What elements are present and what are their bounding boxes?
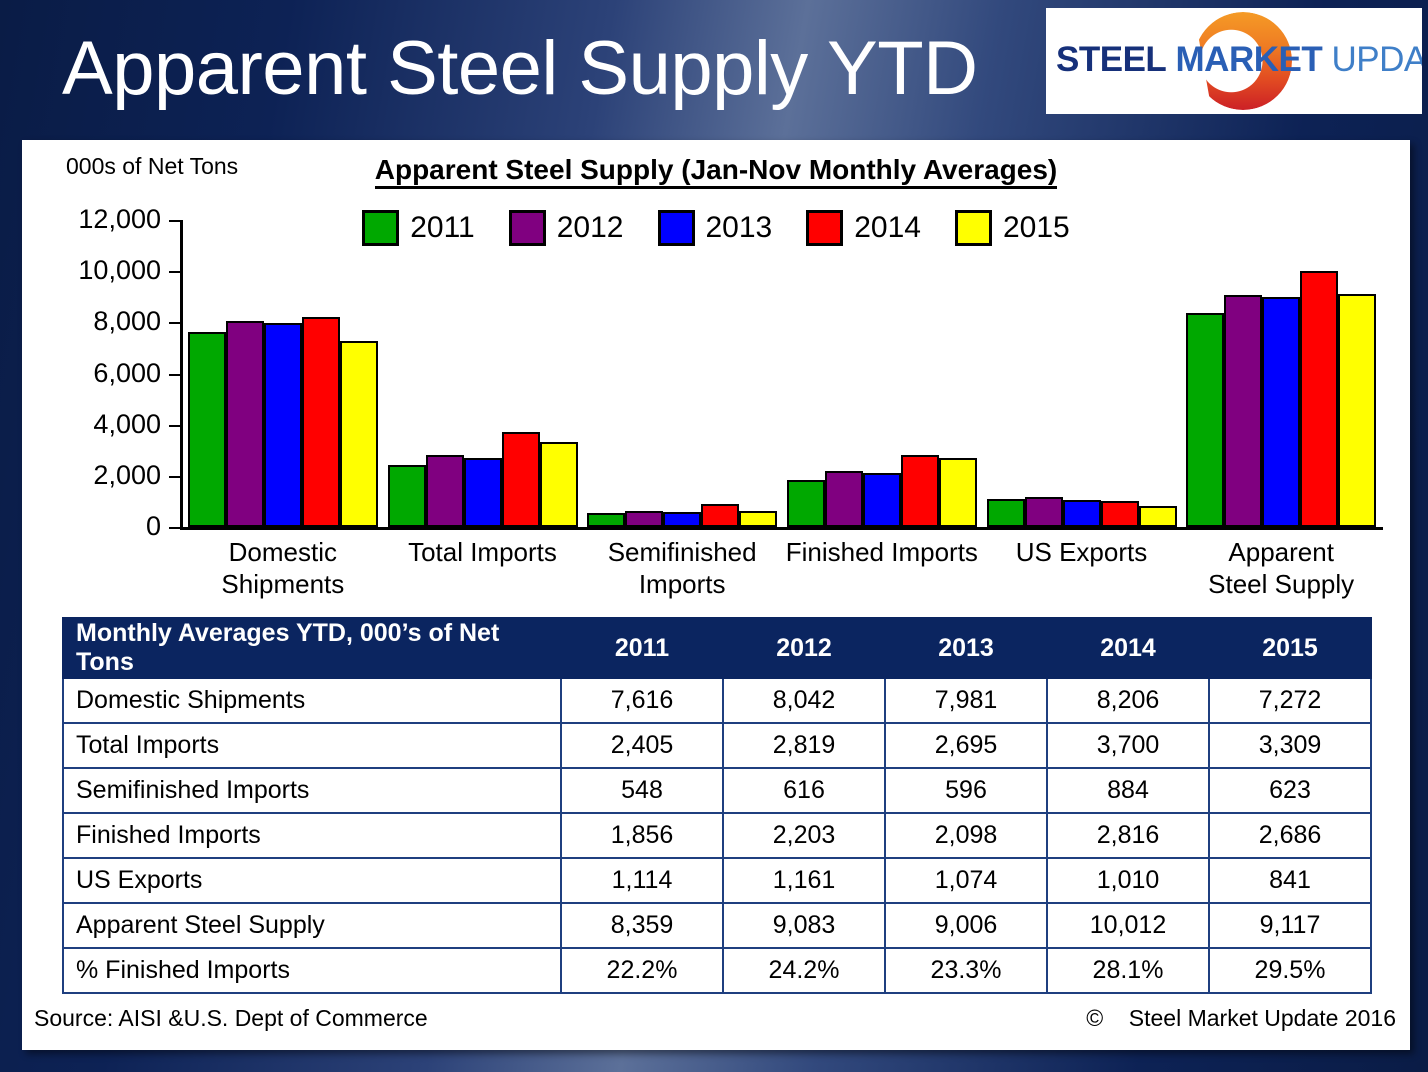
table-cell-2012: 24.2% <box>723 948 885 993</box>
category-label-line: Shipments <box>183 568 383 600</box>
y-tick-label-2000: 2,000 <box>11 460 161 491</box>
category-label-line: Apparent <box>1181 536 1381 568</box>
table-cell-label: Semifinished Imports <box>63 768 561 813</box>
bar-2011-us-exports <box>987 499 1025 527</box>
table-cell-2014: 884 <box>1047 768 1209 813</box>
y-tick-10000 <box>169 271 181 273</box>
table-cell-2011: 22.2% <box>561 948 723 993</box>
category-label-line: Finished Imports <box>782 536 982 568</box>
table-cell-2014: 10,012 <box>1047 903 1209 948</box>
bar-2011-apparent-steel-supply <box>1186 313 1224 527</box>
bar-2012-apparent-steel-supply <box>1224 295 1262 527</box>
y-tick-8000 <box>169 322 181 324</box>
bar-2014-finished-imports <box>901 455 939 527</box>
table-cell-2012: 8,042 <box>723 678 885 723</box>
bar-2015-domestic-shipments <box>340 341 378 527</box>
bar-2015-us-exports <box>1139 506 1177 528</box>
bar-2014-us-exports <box>1101 501 1139 527</box>
bar-2013-apparent-steel-supply <box>1262 297 1300 527</box>
table-header-year-2013: 2013 <box>885 618 1047 678</box>
table-cell-2013: 596 <box>885 768 1047 813</box>
table-row: Finished Imports1,8562,2032,0982,8162,68… <box>63 813 1371 858</box>
bar-2015-apparent-steel-supply <box>1338 294 1376 527</box>
table-row: % Finished Imports22.2%24.2%23.3%28.1%29… <box>63 948 1371 993</box>
table-cell-2014: 1,010 <box>1047 858 1209 903</box>
table-cell-2012: 2,819 <box>723 723 885 768</box>
category-label-finished-imports: Finished Imports <box>782 536 982 568</box>
category-label-line: Total Imports <box>383 536 583 568</box>
y-tick-label-8000: 8,000 <box>11 306 161 337</box>
bar-2015-finished-imports <box>939 458 977 527</box>
category-label-line: Imports <box>582 568 782 600</box>
table-cell-2015: 29.5% <box>1209 948 1371 993</box>
table-head: Monthly Averages YTD, 000’s of Net Tons … <box>63 618 1371 678</box>
content-panel: 000s of Net Tons Apparent Steel Supply (… <box>22 140 1410 1050</box>
bar-2011-semifinished-imports <box>587 513 625 527</box>
table-cell-2011: 2,405 <box>561 723 723 768</box>
table-cell-2015: 623 <box>1209 768 1371 813</box>
table-row: Apparent Steel Supply8,3599,0839,00610,0… <box>63 903 1371 948</box>
chart-title-text: Apparent Steel Supply (Jan-Nov Monthly A… <box>375 154 1058 189</box>
table-cell-label: % Finished Imports <box>63 948 561 993</box>
y-tick-label-12000: 12,000 <box>11 204 161 235</box>
bar-2011-finished-imports <box>787 480 825 527</box>
category-label-total-imports: Total Imports <box>383 536 583 568</box>
category-label-line: Semifinished <box>582 536 782 568</box>
table-cell-2014: 2,816 <box>1047 813 1209 858</box>
table-cell-label: Finished Imports <box>63 813 561 858</box>
source-note: Source: AISI &U.S. Dept of Commerce <box>34 1005 428 1032</box>
bar-2012-total-imports <box>426 455 464 527</box>
table-cell-label: Apparent Steel Supply <box>63 903 561 948</box>
category-label-semifinished-imports: SemifinishedImports <box>582 536 782 600</box>
table-cell-2012: 1,161 <box>723 858 885 903</box>
logo-market-text: MARKET <box>1176 40 1323 79</box>
table-row: Total Imports2,4052,8192,6953,7003,309 <box>63 723 1371 768</box>
logo-wordmark: STEEL MARKET UPDATE <box>1056 41 1422 79</box>
bar-2013-finished-imports <box>863 473 901 527</box>
bars-layer <box>183 220 1381 527</box>
bar-2012-finished-imports <box>825 471 863 527</box>
bar-2014-domestic-shipments <box>302 317 340 527</box>
table-header-year-2011: 2011 <box>561 618 723 678</box>
bar-2015-semifinished-imports <box>739 511 777 527</box>
bar-2012-domestic-shipments <box>226 321 264 527</box>
table-cell-2014: 3,700 <box>1047 723 1209 768</box>
bar-2014-semifinished-imports <box>701 504 739 527</box>
y-tick-label-6000: 6,000 <box>11 358 161 389</box>
table-header-year-2012: 2012 <box>723 618 885 678</box>
data-table-wrapper: Monthly Averages YTD, 000’s of Net Tons … <box>62 617 1370 994</box>
table-cell-2013: 23.3% <box>885 948 1047 993</box>
table-cell-2014: 8,206 <box>1047 678 1209 723</box>
bar-2011-total-imports <box>388 465 426 527</box>
table-cell-2011: 1,114 <box>561 858 723 903</box>
y-tick-6000 <box>169 374 181 376</box>
bar-2013-total-imports <box>464 458 502 527</box>
table-cell-2013: 7,981 <box>885 678 1047 723</box>
table-cell-2015: 3,309 <box>1209 723 1371 768</box>
page-title: Apparent Steel Supply YTD <box>62 26 978 112</box>
bar-chart-plot: 12,00010,0008,0006,0004,0002,0000 Domest… <box>158 220 1383 610</box>
category-label-line: Domestic <box>183 536 383 568</box>
y-tick-0 <box>169 527 181 529</box>
y-tick-label-0: 0 <box>11 511 161 542</box>
table-row: US Exports1,1141,1611,0741,010841 <box>63 858 1371 903</box>
table-cell-2013: 9,006 <box>885 903 1047 948</box>
table-cell-2015: 7,272 <box>1209 678 1371 723</box>
table-cell-label: Total Imports <box>63 723 561 768</box>
logo-steel-text: STEEL <box>1056 40 1166 79</box>
table-cell-2015: 841 <box>1209 858 1371 903</box>
data-table: Monthly Averages YTD, 000’s of Net Tons … <box>62 617 1372 994</box>
bar-2013-us-exports <box>1063 500 1101 527</box>
table-header-year-2015: 2015 <box>1209 618 1371 678</box>
x-axis-line <box>180 527 1383 530</box>
table-cell-2013: 2,695 <box>885 723 1047 768</box>
table-cell-2014: 28.1% <box>1047 948 1209 993</box>
y-tick-4000 <box>169 425 181 427</box>
bar-2011-domestic-shipments <box>188 332 226 527</box>
table-row: Domestic Shipments7,6168,0427,9818,2067,… <box>63 678 1371 723</box>
table-header-label: Monthly Averages YTD, 000’s of Net Tons <box>63 618 561 678</box>
bar-2013-semifinished-imports <box>663 512 701 527</box>
table-cell-label: Domestic Shipments <box>63 678 561 723</box>
copyright-note: © Steel Market Update 2016 <box>1086 1005 1396 1032</box>
table-cell-2015: 9,117 <box>1209 903 1371 948</box>
category-label-line: Steel Supply <box>1181 568 1381 600</box>
table-cell-2011: 7,616 <box>561 678 723 723</box>
table-cell-2012: 616 <box>723 768 885 813</box>
table-body: Domestic Shipments7,6168,0427,9818,2067,… <box>63 678 1371 993</box>
bar-2012-semifinished-imports <box>625 511 663 527</box>
table-header-year-2014: 2014 <box>1047 618 1209 678</box>
bar-2014-total-imports <box>502 432 540 527</box>
bar-2014-apparent-steel-supply <box>1300 271 1338 527</box>
table-cell-label: US Exports <box>63 858 561 903</box>
category-label-domestic-shipments: DomesticShipments <box>183 536 383 600</box>
y-tick-label-4000: 4,000 <box>11 409 161 440</box>
bar-2015-total-imports <box>540 442 578 527</box>
logo-update-text: UPDATE <box>1331 40 1422 79</box>
table-cell-2012: 9,083 <box>723 903 885 948</box>
table-row: Semifinished Imports548616596884623 <box>63 768 1371 813</box>
bar-2013-domestic-shipments <box>264 323 302 527</box>
table-cell-2011: 8,359 <box>561 903 723 948</box>
steel-market-update-logo: STEEL MARKET UPDATE <box>1046 8 1422 114</box>
y-tick-label-10000: 10,000 <box>11 255 161 286</box>
category-label-apparent-steel-supply: ApparentSteel Supply <box>1181 536 1381 600</box>
category-label-us-exports: US Exports <box>982 536 1182 568</box>
bar-2012-us-exports <box>1025 497 1063 527</box>
table-cell-2015: 2,686 <box>1209 813 1371 858</box>
chart-title: Apparent Steel Supply (Jan-Nov Monthly A… <box>22 154 1410 186</box>
category-label-line: US Exports <box>982 536 1182 568</box>
table-cell-2011: 1,856 <box>561 813 723 858</box>
table-header-row: Monthly Averages YTD, 000’s of Net Tons … <box>63 618 1371 678</box>
table-cell-2013: 1,074 <box>885 858 1047 903</box>
table-cell-2012: 2,203 <box>723 813 885 858</box>
y-tick-12000 <box>169 220 181 222</box>
table-cell-2013: 2,098 <box>885 813 1047 858</box>
slide-header: Apparent Steel Supply YTD STEEL MARKET U… <box>0 0 1428 133</box>
y-tick-2000 <box>169 476 181 478</box>
table-cell-2011: 548 <box>561 768 723 813</box>
